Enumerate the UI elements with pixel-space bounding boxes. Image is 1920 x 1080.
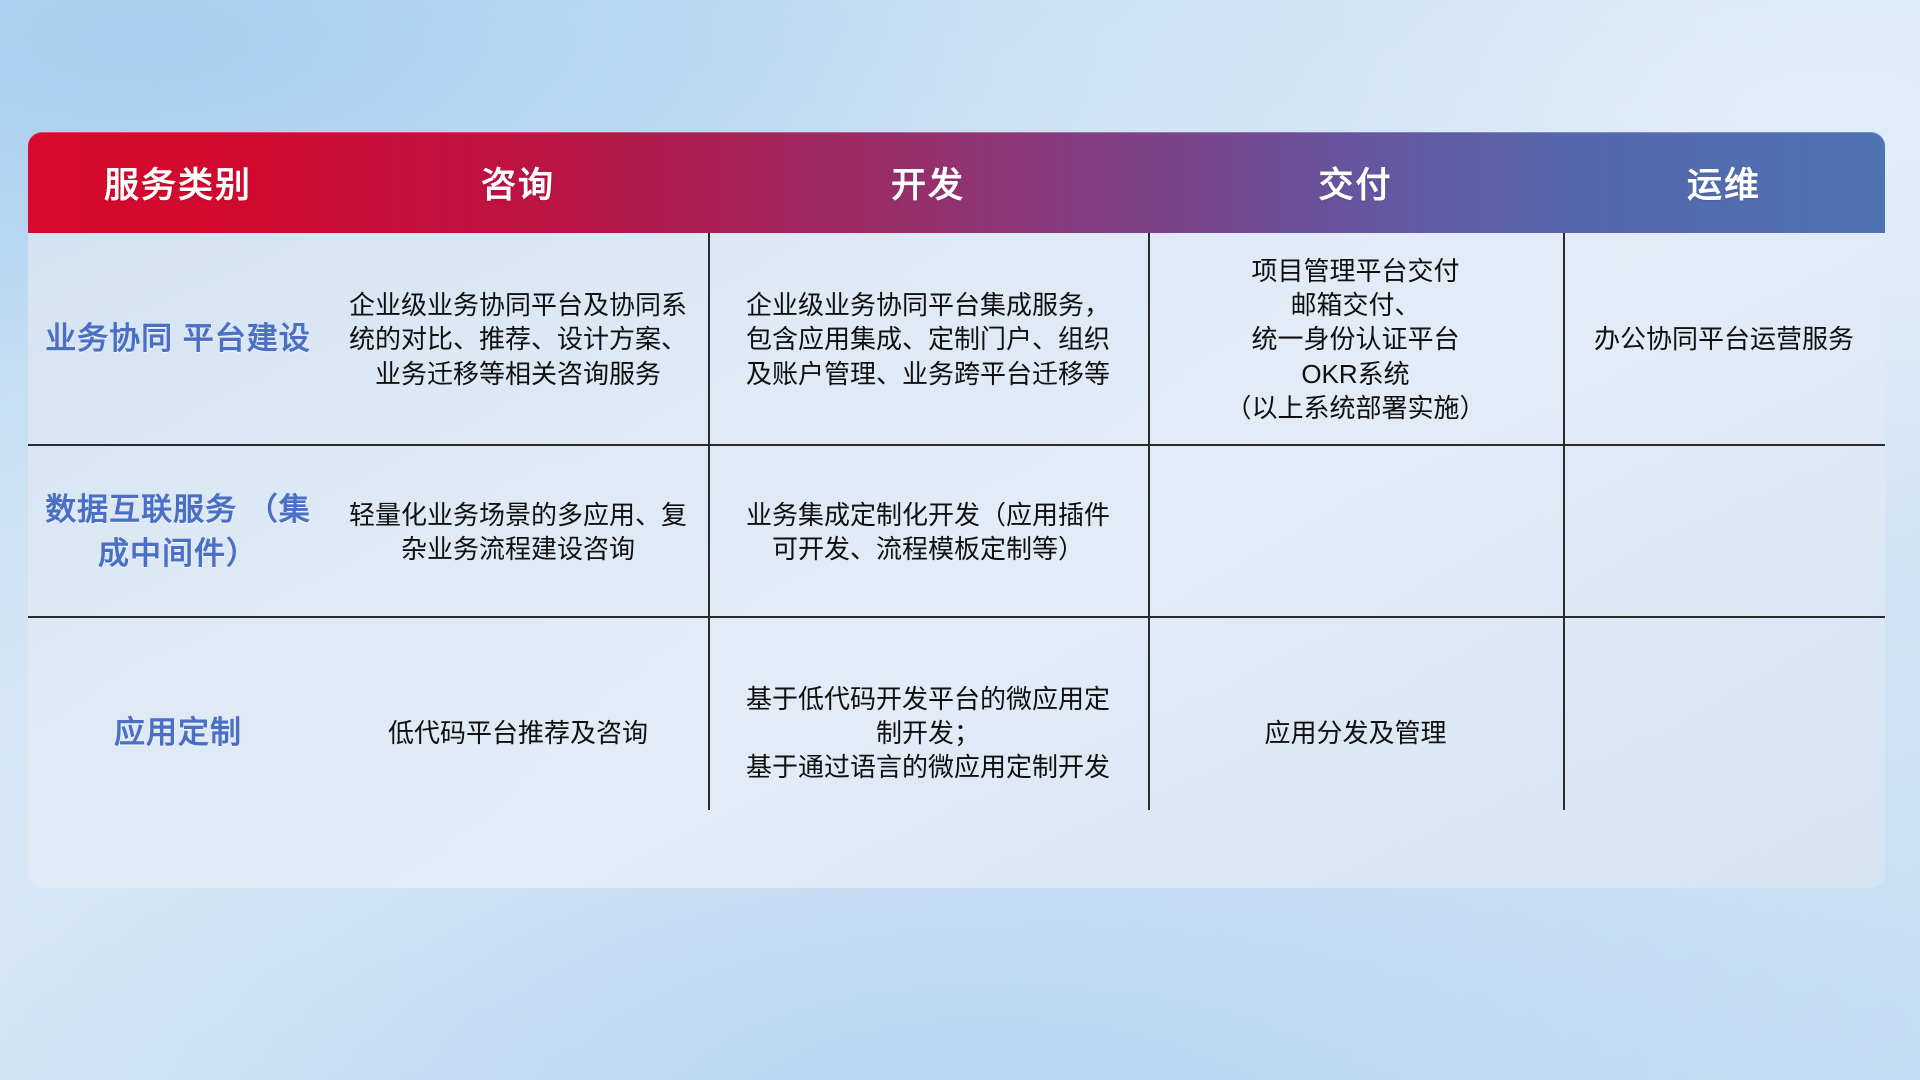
cell-consulting: 企业级业务协同平台及协同系 统的对比、推荐、设计方案、 业务迁移等相关咨询服务 <box>328 233 708 446</box>
cell-delivery <box>1148 446 1563 618</box>
cell-text: 企业级业务协同平台及协同系 统的对比、推荐、设计方案、 业务迁移等相关咨询服务 <box>349 288 687 391</box>
cell-delivery: 应用分发及管理 <box>1148 618 1563 848</box>
column-header-label: 服务类别 <box>104 157 252 208</box>
cell-operations: 办公协同平台运营服务 <box>1563 233 1885 446</box>
cell-text: 低代码平台推荐及咨询 <box>388 716 648 750</box>
cell-text: 办公协同平台运营服务 <box>1594 322 1854 356</box>
category-label: 数据互联服务 （集成中间件） <box>40 488 316 576</box>
cell-operations <box>1563 446 1885 618</box>
table-row: 业务协同 平台建设 企业级业务协同平台及协同系 统的对比、推荐、设计方案、 业务… <box>28 233 1885 446</box>
cell-operations <box>1563 618 1885 848</box>
service-matrix-table: 服务类别 咨询 开发 交付 运维 业务协同 平台建设 <box>28 132 1885 888</box>
cell-consulting: 低代码平台推荐及咨询 <box>328 618 708 848</box>
cell-category: 业务协同 平台建设 <box>28 233 328 446</box>
cell-consulting: 轻量化业务场景的多应用、复 杂业务流程建设咨询 <box>328 446 708 618</box>
table-row: 数据互联服务 （集成中间件） 轻量化业务场景的多应用、复 杂业务流程建设咨询 业… <box>28 446 1885 618</box>
column-header-label: 运维 <box>1687 157 1761 208</box>
cell-development: 企业级业务协同平台集成服务， 包含应用集成、定制门户、组织 及账户管理、业务跨平… <box>708 233 1148 446</box>
cell-text: 轻量化业务场景的多应用、复 杂业务流程建设咨询 <box>349 498 687 567</box>
slide-canvas: 服务类别 咨询 开发 交付 运维 业务协同 平台建设 <box>0 0 1920 1080</box>
column-header-consulting: 咨询 <box>328 132 708 233</box>
column-header-label: 交付 <box>1318 157 1392 208</box>
table-row: 应用定制 低代码平台推荐及咨询 基于低代码开发平台的微应用定 制开发； 基于通过… <box>28 618 1885 848</box>
column-header-development: 开发 <box>708 132 1148 233</box>
category-label: 应用定制 <box>114 711 242 755</box>
category-label: 业务协同 平台建设 <box>45 317 311 361</box>
cell-category: 应用定制 <box>28 618 328 848</box>
cell-category: 数据互联服务 （集成中间件） <box>28 446 328 618</box>
cell-text: 基于低代码开发平台的微应用定 制开发； 基于通过语言的微应用定制开发 <box>746 682 1110 785</box>
cell-text: 企业级业务协同平台集成服务， 包含应用集成、定制门户、组织 及账户管理、业务跨平… <box>746 288 1110 391</box>
cell-development: 业务集成定制化开发（应用插件 可开发、流程模板定制等） <box>708 446 1148 618</box>
cell-text: 应用分发及管理 <box>1264 716 1446 750</box>
cell-text: 业务集成定制化开发（应用插件 可开发、流程模板定制等） <box>746 498 1110 567</box>
cell-delivery: 项目管理平台交付 邮箱交付、 统一身份认证平台 OKR系统 （以上系统部署实施） <box>1148 233 1563 446</box>
table-body: 业务协同 平台建设 企业级业务协同平台及协同系 统的对比、推荐、设计方案、 业务… <box>28 233 1885 888</box>
column-header-label: 咨询 <box>481 157 555 208</box>
column-header-label: 开发 <box>891 157 965 208</box>
cell-development: 基于低代码开发平台的微应用定 制开发； 基于通过语言的微应用定制开发 <box>708 618 1148 848</box>
column-header-operations: 运维 <box>1563 132 1885 233</box>
column-header-delivery: 交付 <box>1148 132 1563 233</box>
cell-text: 项目管理平台交付 邮箱交付、 统一身份认证平台 OKR系统 （以上系统部署实施） <box>1225 254 1485 426</box>
column-header-service-category: 服务类别 <box>28 132 328 233</box>
table-header-row: 服务类别 咨询 开发 交付 运维 <box>28 132 1885 233</box>
table-footer-spacer <box>28 848 1885 888</box>
